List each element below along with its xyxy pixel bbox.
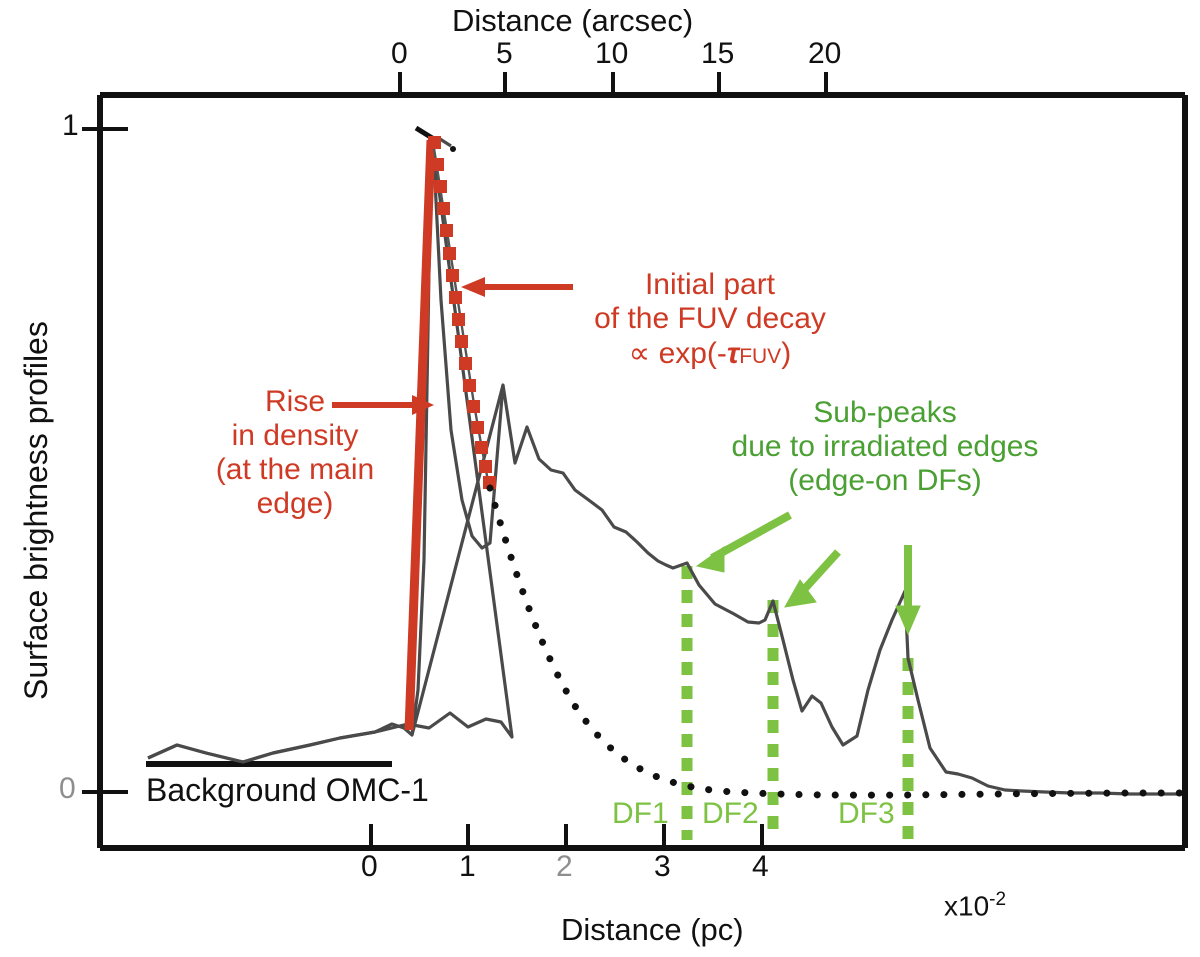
rise-line-2: in density bbox=[180, 419, 410, 453]
fuv-tau-subscript: FUV bbox=[739, 345, 781, 368]
subpeaks-annotation: Sub-peaks due to irradiated edges (edge-… bbox=[640, 396, 1130, 498]
rise-line-3: (at the main bbox=[180, 453, 410, 487]
fuv-arrow bbox=[455, 274, 575, 300]
top-axis-title: Distance (arcsec) bbox=[452, 4, 693, 37]
bottom-tick-0: 0 bbox=[361, 851, 378, 883]
fuv-line-2: of the FUV decay bbox=[520, 302, 900, 336]
figure-canvas: Distance (arcsec) 0 5 10 15 20 Surface b… bbox=[0, 0, 1200, 957]
df3-arrow bbox=[896, 545, 920, 634]
multiplier-exponent: -2 bbox=[989, 889, 1006, 910]
df1-label: DF1 bbox=[612, 798, 669, 830]
top-tick-5: 5 bbox=[496, 38, 513, 70]
bottom-tick-3: 3 bbox=[654, 851, 671, 883]
fuv-paren-close: ) bbox=[781, 337, 791, 370]
bottom-tick-2: 2 bbox=[556, 851, 573, 883]
subpeaks-line-2: due to irradiated edges bbox=[640, 430, 1130, 464]
fuv-line-1: Initial part bbox=[520, 268, 900, 302]
rise-line-4: edge) bbox=[180, 487, 410, 521]
extrapolated-decay-curve bbox=[490, 488, 1182, 795]
bottom-axis-title: Distance (pc) bbox=[561, 913, 744, 946]
peak-dot bbox=[450, 146, 456, 152]
df2-arrow bbox=[785, 552, 838, 607]
left-axis-ticks bbox=[82, 129, 128, 792]
top-axis-ticks bbox=[400, 72, 826, 95]
multiplier-base: x10 bbox=[944, 890, 989, 921]
top-tick-20: 20 bbox=[808, 38, 841, 70]
top-tick-0: 0 bbox=[391, 38, 408, 70]
bottom-tick-4: 4 bbox=[752, 851, 769, 883]
df2-label: DF2 bbox=[702, 798, 759, 830]
bottom-tick-1: 1 bbox=[459, 851, 476, 883]
bottom-axis-multiplier: x10-2 bbox=[944, 890, 1006, 922]
y-tick-1: 1 bbox=[62, 110, 79, 142]
rise-arrow bbox=[330, 392, 440, 418]
background-label: Background OMC-1 bbox=[146, 773, 429, 808]
fuv-annotation: Initial part of the FUV decay ∝ exp(-τFU… bbox=[520, 268, 900, 371]
fuv-line-3: ∝ exp(-τFUV) bbox=[520, 336, 900, 371]
subpeaks-line-3: (edge-on DFs) bbox=[640, 464, 1130, 498]
y-axis-title: Surface brightness profiles bbox=[18, 321, 55, 700]
df1-arrow bbox=[697, 515, 790, 572]
fuv-tau-symbol: τ bbox=[727, 337, 739, 370]
top-tick-15: 15 bbox=[701, 38, 734, 70]
df3-label: DF3 bbox=[838, 798, 895, 830]
top-tick-10: 10 bbox=[595, 38, 628, 70]
fuv-prop-prefix: ∝ exp(- bbox=[629, 337, 727, 370]
subpeak-arrows bbox=[697, 515, 920, 634]
y-tick-0: 0 bbox=[59, 773, 76, 805]
fuv-decay-dots bbox=[428, 136, 496, 489]
subpeaks-line-1: Sub-peaks bbox=[640, 396, 1130, 430]
